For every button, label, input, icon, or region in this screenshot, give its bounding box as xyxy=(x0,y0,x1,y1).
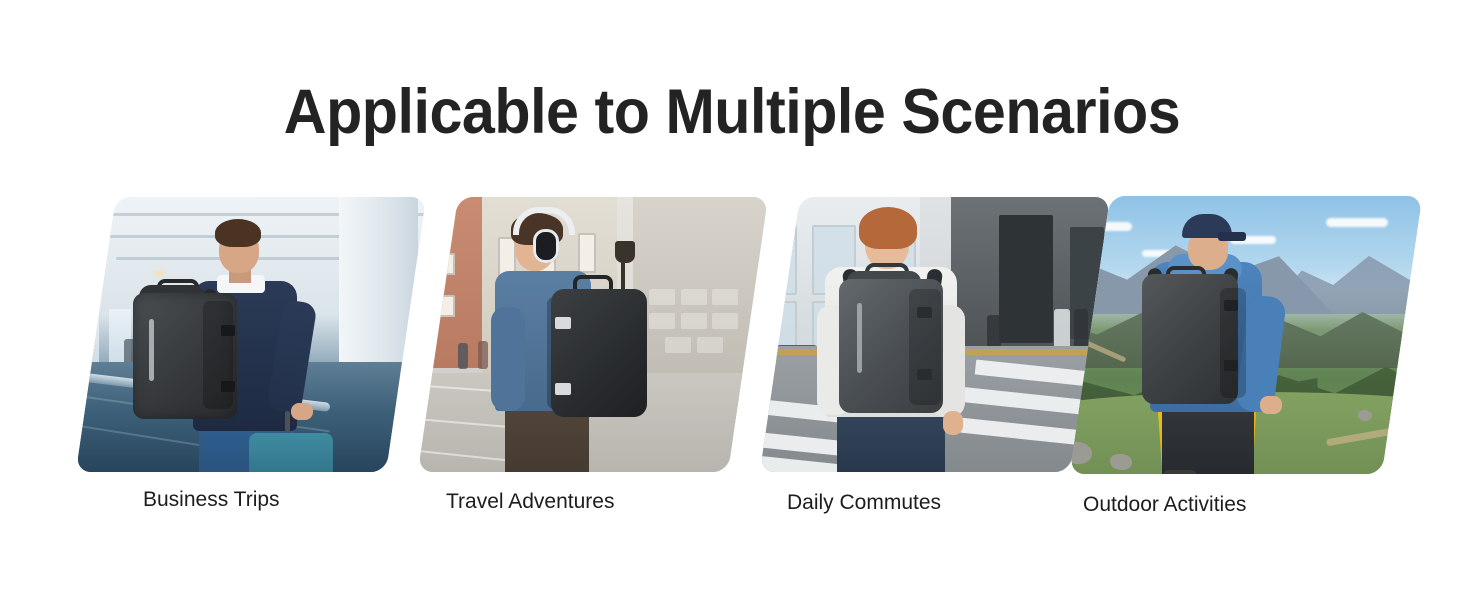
scenario-caption-outdoor-activities: Outdoor Activities xyxy=(1083,492,1246,518)
scenarios-banner: Applicable to Multiple Scenarios xyxy=(0,0,1464,600)
scenario-caption-daily-commutes: Daily Commutes xyxy=(787,490,941,516)
scenario-card-outdoor-activities[interactable] xyxy=(1070,196,1423,474)
scene-image-outdoor-activities xyxy=(1070,196,1423,474)
scene-image-travel-adventures xyxy=(418,197,768,472)
scenario-card-travel-adventures[interactable] xyxy=(418,197,768,472)
scenario-card-business-trips[interactable] xyxy=(76,197,426,472)
scenario-card-daily-commutes[interactable] xyxy=(760,197,1110,472)
scenario-caption-business-trips: Business Trips xyxy=(143,487,280,513)
scene-image-business-trips xyxy=(76,197,426,472)
scenario-caption-travel-adventures: Travel Adventures xyxy=(446,489,614,515)
scene-image-daily-commutes xyxy=(760,197,1110,472)
